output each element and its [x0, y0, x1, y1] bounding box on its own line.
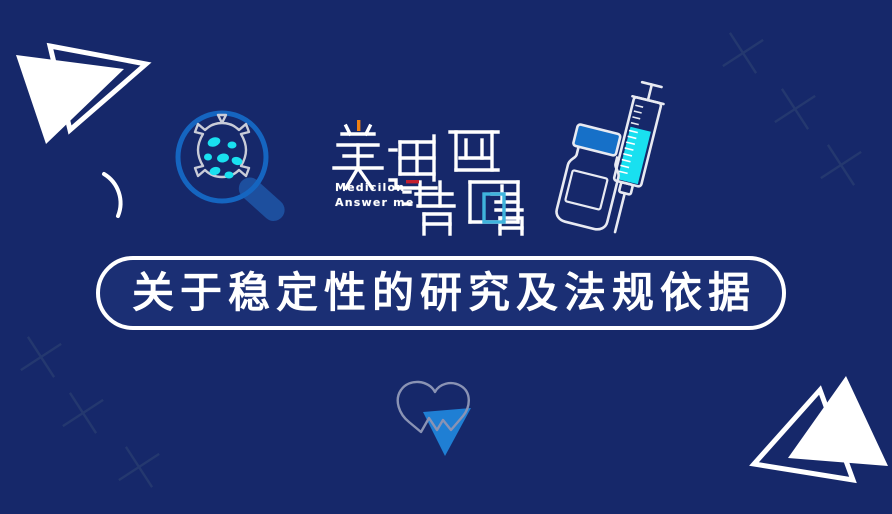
vial-label — [565, 170, 608, 210]
logo-english-text: Medicilon Answer me — [335, 180, 415, 210]
triangle-decoration-bottom-right — [748, 374, 892, 514]
x-mark-icon — [112, 440, 166, 494]
syringe-liquid — [617, 127, 650, 184]
triangle-filled — [788, 376, 888, 466]
logo-glyphs — [330, 118, 540, 236]
virus-glyph — [195, 115, 249, 179]
x-mark-icon — [716, 26, 770, 80]
x-mark-icon — [814, 138, 868, 192]
title-banner-pill: 关于稳定性的研究及法规依据 — [96, 256, 786, 330]
syringe-vial-icon — [552, 72, 678, 252]
page-title: 关于稳定性的研究及法规依据 — [126, 272, 756, 314]
arc-decoration-icon — [96, 166, 152, 226]
heart-pulse-icon — [385, 372, 485, 462]
vial-glyph — [554, 124, 628, 232]
x-mark-icon — [56, 386, 110, 440]
vial-cap — [573, 124, 621, 156]
vial-body — [554, 145, 623, 231]
medicilon-logo: Medicilon Answer me — [330, 118, 540, 236]
logo-accent-orange — [357, 120, 360, 131]
banner-canvas: Medicilon Answer me 关于稳定性的研究及法规依据 — [0, 0, 892, 514]
x-mark-icon — [768, 82, 822, 136]
x-mark-icon — [14, 330, 68, 384]
triangle-decoration-top-left — [8, 20, 168, 180]
logo-english-line-2: Answer me — [335, 195, 415, 210]
magnifier-virus-icon — [165, 105, 305, 225]
logo-english-line-1: Medicilon — [335, 180, 415, 195]
